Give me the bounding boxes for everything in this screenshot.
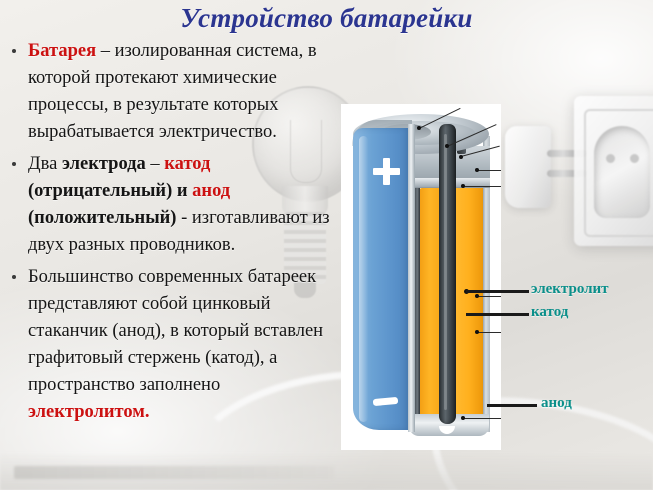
callout-anode-line [487, 404, 537, 407]
run-and: и [177, 181, 188, 201]
callout-cathode-label: катод [531, 304, 568, 321]
leader-dot-vent [445, 144, 449, 148]
slide-canvas: Устройство батарейки Батарея – изолирова… [0, 0, 653, 490]
callout-electrolyte-line [466, 290, 529, 293]
jacket-highlight [359, 136, 368, 422]
leader-line-bottom [463, 418, 501, 419]
leader-dot-separator [461, 184, 465, 188]
callout-cathode-line [466, 313, 529, 316]
callout-electrolyte-label: электролит [531, 281, 609, 298]
run-battery-term: Батарея [28, 41, 96, 61]
bullet-list: Батарея – изолированная система, в котор… [4, 38, 344, 431]
slide-title: Устройство батарейки [0, 3, 653, 34]
run-negative: (отрицательный) [28, 181, 172, 201]
graphite-rod-cathode [439, 124, 456, 424]
leader-dot-cap [417, 126, 421, 130]
bullet-two-electrodes: Два электрода – катод (отрицательный) и … [4, 151, 344, 259]
electrolyte-main-body [455, 186, 485, 430]
callout-anode-label: анод [541, 395, 572, 412]
run-electrodes: электрода [62, 154, 146, 174]
leader-dot-washer [475, 168, 479, 172]
plus-terminal-mark-horizontal [373, 168, 400, 175]
plug-body [505, 126, 551, 208]
run-anode: анод [192, 181, 230, 201]
background-surface-strip [14, 466, 334, 479]
leader-line-jacket [477, 332, 501, 333]
socket-pin-right [630, 154, 639, 163]
run-positive: (положительный) [28, 208, 176, 228]
run-electrolyte-term: электролитом. [28, 402, 150, 422]
run-cathode: катод [164, 154, 210, 174]
battery-cutaway-illustration [351, 110, 491, 444]
bullet-marker-icon [12, 275, 16, 279]
bullet-battery-definition: Батарея – изолированная система, в котор… [4, 38, 344, 146]
leader-dot-jacket [475, 330, 479, 334]
run-dash: – [146, 154, 165, 174]
leader-dot-gasket [459, 155, 463, 159]
battery-diagram-panel [341, 104, 501, 450]
wall-socket-background-image [574, 96, 653, 246]
electrolyte-front-slab [419, 188, 441, 428]
power-plug-background-image [505, 110, 581, 218]
graphite-rod-highlight [444, 134, 447, 410]
bullet-marker-icon [12, 49, 16, 53]
socket-pin-left [606, 154, 615, 163]
bullet-marker-icon [12, 162, 16, 166]
run-two: Два [28, 154, 62, 174]
leader-line-separator [463, 186, 501, 187]
can-cut-edge [408, 124, 415, 432]
socket-recess [594, 126, 650, 218]
bullet-zinc-cup: Большинство современных батареек предста… [4, 264, 344, 426]
leader-line-can [477, 296, 501, 297]
leader-line-washer [477, 170, 501, 171]
leader-dot-bottom [461, 416, 465, 420]
run-zinc-cup-text: Большинство современных батареек предста… [28, 267, 323, 395]
leader-dot-can [475, 294, 479, 298]
